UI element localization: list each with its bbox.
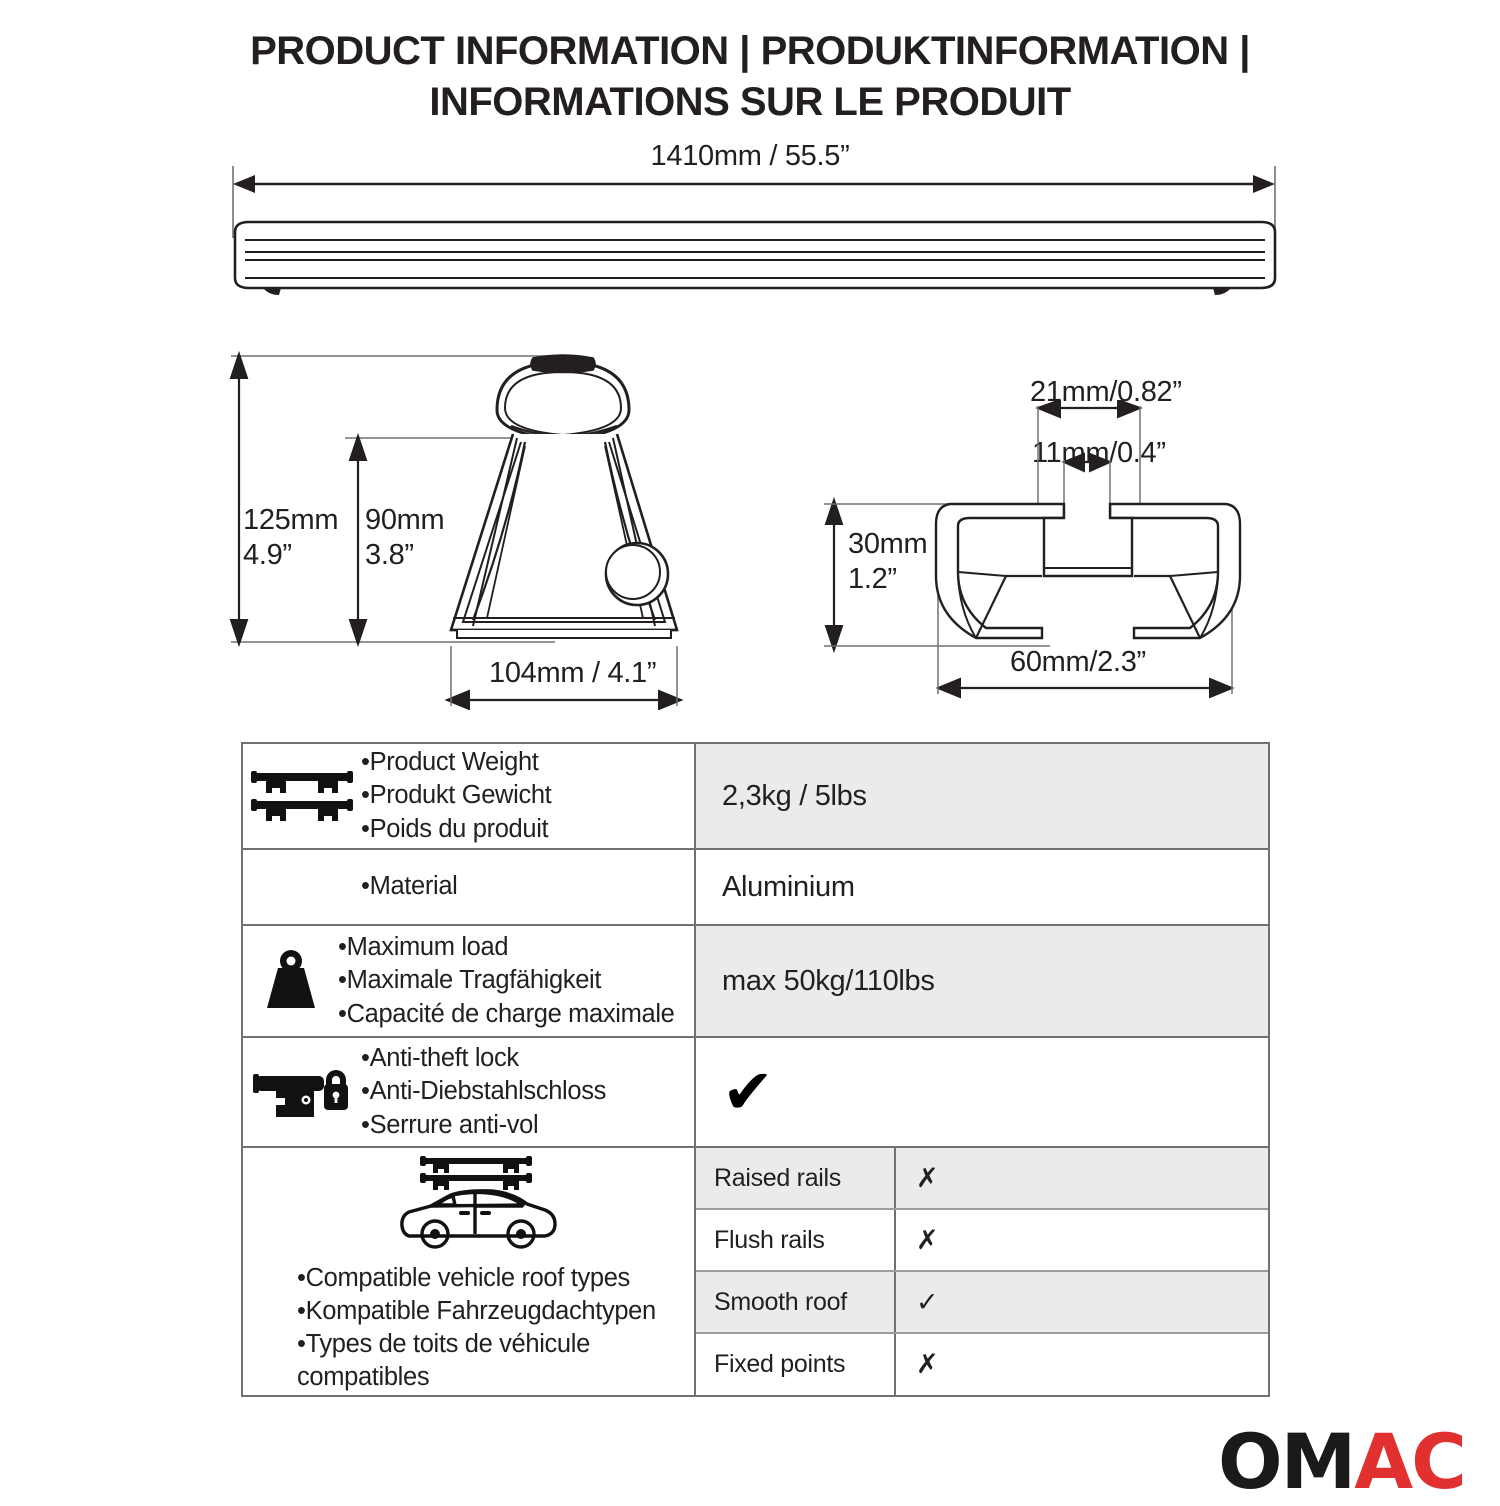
row-value-cell: 2,3kg / 5lbs xyxy=(696,744,1268,848)
weight-icon xyxy=(243,948,338,1014)
row-value-cell: ✔ xyxy=(696,1038,1268,1146)
label-line: •Product Weight xyxy=(361,746,551,779)
page-title-line-2: INFORMATIONS SUR LE PRODUIT xyxy=(0,77,1500,128)
anti-theft-check-mark: ✔ xyxy=(722,1061,774,1123)
omac-logo-dark-part: OM xyxy=(1218,1417,1354,1506)
row-label-cell: •Maximum load •Maximale Tragfähigkeit •C… xyxy=(243,926,696,1036)
label-line: •Kompatible Fahrzeugdachtypen xyxy=(297,1295,694,1328)
lock-icon xyxy=(243,1060,361,1124)
omac-logo-red-part: AC xyxy=(1354,1417,1465,1506)
label-line: •Capacité de charge maximale xyxy=(338,998,674,1031)
omac-logo: OMAC xyxy=(1218,1424,1465,1500)
roof-type-name: Fixed points xyxy=(696,1334,896,1394)
label-line: •Maximum load xyxy=(338,931,674,964)
roof-type-row: Smooth roof ✓ xyxy=(696,1272,1268,1334)
row-labels: •Product Weight •Produkt Gewicht •Poids … xyxy=(361,746,551,845)
page-title-line-1: PRODUCT INFORMATION | PRODUKTINFORMATION… xyxy=(0,26,1500,77)
label-line: •Anti-theft lock xyxy=(361,1042,606,1075)
label-line: •Compatible vehicle roof types xyxy=(297,1262,694,1295)
table-row: •Material Aluminium xyxy=(243,850,1268,926)
label-line: •Material xyxy=(361,870,457,903)
car-with-roof-bars-icon xyxy=(257,1148,694,1256)
roof-type-row: Raised rails ✗ xyxy=(696,1148,1268,1210)
roof-type-name: Smooth roof xyxy=(696,1272,896,1332)
roof-bar-side-view xyxy=(225,160,1285,310)
row-label-cell: •Product Weight •Produkt Gewicht •Poids … xyxy=(243,744,696,848)
label-line: •Poids du produit xyxy=(361,813,551,846)
table-row: •Anti-theft lock •Anti-Diebstahlschloss … xyxy=(243,1038,1268,1148)
roof-bar-cross-section xyxy=(810,400,1290,700)
roof-type-row: Fixed points ✗ xyxy=(696,1334,1268,1394)
roof-bars-icon xyxy=(243,767,361,825)
row-labels: •Compatible vehicle roof types •Kompatib… xyxy=(257,1262,694,1395)
roof-type-row: Flush rails ✗ xyxy=(696,1210,1268,1272)
label-line: •Maximale Tragfähigkeit xyxy=(338,964,674,997)
roof-bar-foot-elevation xyxy=(225,350,705,710)
row-labels: •Anti-theft lock •Anti-Diebstahlschloss … xyxy=(361,1042,606,1141)
roof-type-mark: ✗ xyxy=(896,1334,1268,1394)
roof-type-name: Flush rails xyxy=(696,1210,896,1270)
row-label-cell: •Material xyxy=(243,850,696,924)
label-line: •Types de toits de véhicule compatibles xyxy=(297,1328,694,1394)
product-information-sheet: PRODUCT INFORMATION | PRODUKTINFORMATION… xyxy=(0,0,1500,1500)
row-label-cell: •Compatible vehicle roof types •Kompatib… xyxy=(243,1148,696,1395)
table-row-roof-types: •Compatible vehicle roof types •Kompatib… xyxy=(243,1148,1268,1395)
label-line: •Anti-Diebstahlschloss xyxy=(361,1075,606,1108)
max-load-value: max 50kg/110lbs xyxy=(722,965,935,998)
label-line: •Serrure anti-vol xyxy=(361,1109,606,1142)
row-labels: •Maximum load •Maximale Tragfähigkeit •C… xyxy=(338,931,674,1030)
label-line: •Produkt Gewicht xyxy=(361,779,551,812)
table-row: •Maximum load •Maximale Tragfähigkeit •C… xyxy=(243,926,1268,1038)
table-row: •Product Weight •Produkt Gewicht •Poids … xyxy=(243,744,1268,850)
roof-type-mark: ✗ xyxy=(896,1148,1268,1208)
material-value: Aluminium xyxy=(722,871,855,904)
specification-table: •Product Weight •Produkt Gewicht •Poids … xyxy=(241,742,1270,1397)
row-label-cell: •Anti-theft lock •Anti-Diebstahlschloss … xyxy=(243,1038,696,1146)
page-title: PRODUCT INFORMATION | PRODUKTINFORMATION… xyxy=(0,26,1500,128)
roof-type-name: Raised rails xyxy=(696,1148,896,1208)
row-value-cell: Aluminium xyxy=(696,850,1268,924)
roof-type-mark: ✗ xyxy=(896,1210,1268,1270)
roof-type-subtable: Raised rails ✗ Flush rails ✗ Smooth roof… xyxy=(696,1148,1268,1395)
row-value-cell: max 50kg/110lbs xyxy=(696,926,1268,1036)
row-labels: •Material xyxy=(361,870,457,903)
roof-type-mark: ✓ xyxy=(896,1272,1268,1332)
product-weight-value: 2,3kg / 5lbs xyxy=(722,780,867,813)
